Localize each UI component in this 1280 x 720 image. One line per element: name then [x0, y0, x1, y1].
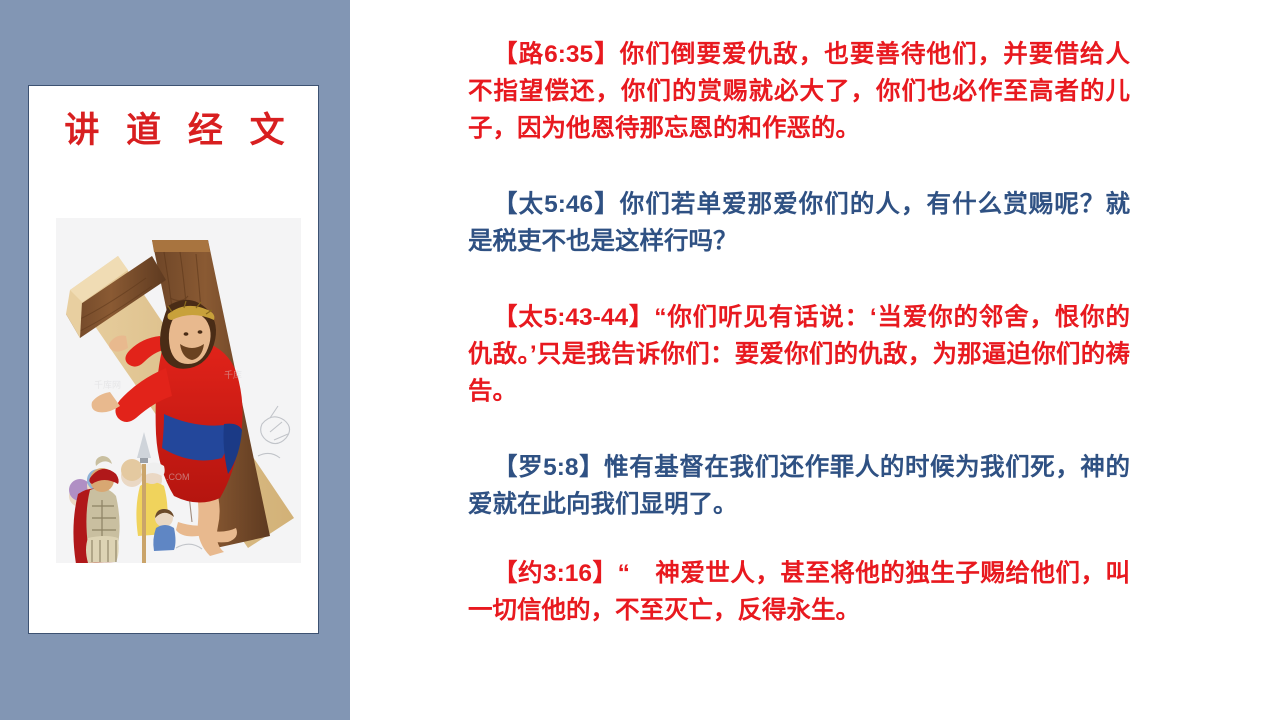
jesus-carrying-cross-illustration: 千库网 千库 .COM: [56, 218, 301, 563]
sidebar-panel: 讲 道 经 文: [0, 0, 350, 720]
presentation-slide: 讲 道 经 文: [0, 0, 1280, 720]
title-card: 讲 道 经 文: [28, 85, 319, 634]
scripture-verse-luke-6-35: 【路6:35】你们倒要爱仇敌，也要善待他们，并要借给人不指望偿还，你们的赏赐就必…: [468, 36, 1130, 147]
scripture-verse-matthew-5-46: 【太5:46】你们若单爱那爱你们的人，有什么赏赐呢？就是税吏不也是这样行吗？: [468, 186, 1130, 260]
svg-text:千库网: 千库网: [94, 379, 121, 390]
scripture-verse-john-3-16: 【约3:16】“ 神爱世人，甚至将他的独生子赐给他们，叫一切信他的，不至灭亡，反…: [468, 555, 1130, 629]
scripture-list: 【路6:35】你们倒要爱仇敌，也要善待他们，并要借给人不指望偿还，你们的赏赐就必…: [468, 36, 1130, 656]
scripture-verse-matthew-5-43-44: 【太5:43-44】“你们听见有话说：‘当爱你的邻舍，恨你的仇敌。’只是我告诉你…: [468, 299, 1130, 410]
svg-text:.COM: .COM: [166, 472, 190, 482]
page-title: 讲 道 经 文: [29, 112, 320, 151]
svg-text:千库: 千库: [224, 369, 242, 380]
scripture-verse-romans-5-8: 【罗5:8】惟有基督在我们还作罪人的时候为我们死，神的爱就在此向我们显明了。: [468, 449, 1130, 523]
